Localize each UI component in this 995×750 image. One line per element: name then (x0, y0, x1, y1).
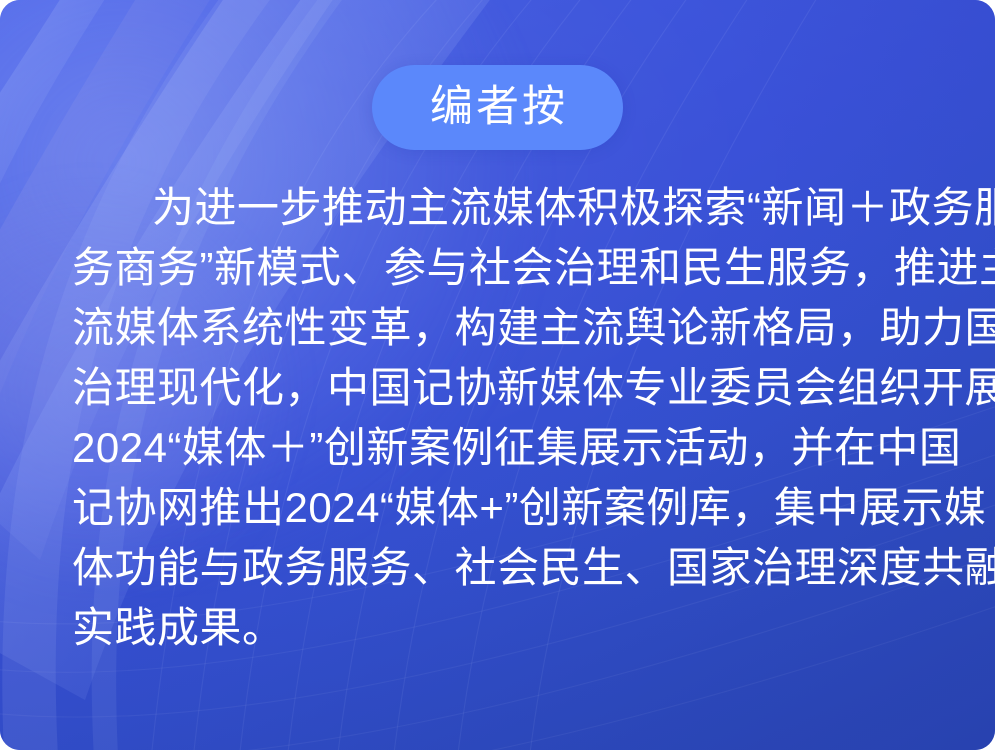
title-badge-container: 编者按 (0, 65, 995, 150)
paragraph-line: 务商务”新模式、参与社会治理和民生服务，推进主 (72, 238, 922, 298)
paragraph-line: 记协网推出2024“媒体+”创新案例库，集中展示媒 (72, 478, 922, 538)
paragraph-line: 流媒体系统性变革，构建主流舆论新格局，助力国家 (72, 298, 922, 358)
editors-note-poster: 编者按 为进一步推动主流媒体积极探索“新闻＋政务服 务商务”新模式、参与社会治理… (0, 0, 995, 750)
editors-note-badge-label: 编者按 (427, 86, 568, 129)
paragraph-line: 体功能与政务服务、社会民生、国家治理深度共融的 (72, 538, 922, 598)
editors-note-badge: 编者按 (372, 65, 623, 150)
paragraph-line: 2024“媒体＋”创新案例征集展示活动，并在中国 (72, 418, 922, 478)
paragraph-line: 实践成果。 (72, 598, 922, 658)
body-paragraph: 为进一步推动主流媒体积极探索“新闻＋政务服 务商务”新模式、参与社会治理和民生服… (72, 178, 922, 658)
paragraph-line: 治理现代化，中国记协新媒体专业委员会组织开展 (72, 358, 922, 418)
paragraph-line: 为进一步推动主流媒体积极探索“新闻＋政务服 (72, 178, 922, 238)
